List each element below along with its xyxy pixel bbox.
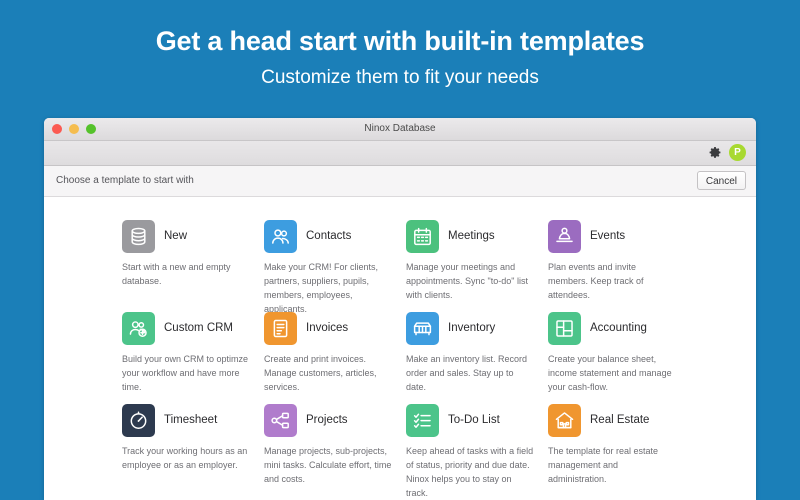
template-card-new[interactable]: NewStart with a new and empty database. bbox=[122, 219, 257, 311]
template-card-description: Plan events and invite members. Keep tra… bbox=[548, 260, 676, 302]
template-card-title: Contacts bbox=[306, 230, 351, 242]
template-card-meetings[interactable]: MeetingsManage your meetings and appoint… bbox=[406, 219, 541, 311]
template-card-description: Manage your meetings and appointments. S… bbox=[406, 260, 534, 302]
template-card-header: To-Do List bbox=[406, 403, 541, 437]
user-add-icon[interactable] bbox=[122, 312, 155, 345]
template-card-description: Start with a new and empty database. bbox=[122, 260, 250, 288]
minimize-button[interactable] bbox=[69, 124, 79, 134]
template-card-title: Meetings bbox=[448, 230, 495, 242]
template-card-title: Timesheet bbox=[164, 414, 217, 426]
template-card-accounting[interactable]: AccountingCreate your balance sheet, inc… bbox=[548, 311, 683, 403]
cancel-button[interactable]: Cancel bbox=[697, 171, 746, 190]
toolbar-actions: P bbox=[708, 144, 746, 161]
stopwatch-icon[interactable] bbox=[122, 404, 155, 437]
template-card-real-estate[interactable]: Real EstateThe template for real estate … bbox=[548, 403, 683, 495]
window-title: Ninox Database bbox=[44, 118, 756, 140]
template-card-to-do-list[interactable]: To-Do ListKeep ahead of tasks with a fie… bbox=[406, 403, 541, 495]
promo-title: Get a head start with built-in templates bbox=[0, 0, 800, 57]
template-card-header: Events bbox=[548, 219, 683, 253]
template-card-description: Build your own CRM to optimze your workf… bbox=[122, 352, 250, 394]
checklist-icon[interactable] bbox=[406, 404, 439, 437]
template-card-title: Inventory bbox=[448, 322, 495, 334]
subbar-label: Choose a template to start with bbox=[56, 166, 194, 196]
template-subbar: Choose a template to start with Cancel bbox=[44, 166, 756, 197]
template-card-header: Custom CRM bbox=[122, 311, 257, 345]
template-card-header: Invoices bbox=[264, 311, 399, 345]
template-card-custom-crm[interactable]: Custom CRMBuild your own CRM to optimze … bbox=[122, 311, 257, 403]
invoice-icon[interactable] bbox=[264, 312, 297, 345]
template-card-header: Real Estate bbox=[548, 403, 683, 437]
template-grid: NewStart with a new and empty database.C… bbox=[44, 197, 756, 495]
users-icon[interactable] bbox=[264, 220, 297, 253]
window-titlebar: Ninox Database bbox=[44, 118, 756, 141]
template-card-inventory[interactable]: InventoryMake an inventory list. Record … bbox=[406, 311, 541, 403]
database-icon[interactable] bbox=[122, 220, 155, 253]
presenter-icon[interactable] bbox=[548, 220, 581, 253]
template-card-title: Projects bbox=[306, 414, 348, 426]
template-card-header: Timesheet bbox=[122, 403, 257, 437]
template-card-title: Custom CRM bbox=[164, 322, 233, 334]
template-card-description: Make an inventory list. Record order and… bbox=[406, 352, 534, 394]
template-card-header: Projects bbox=[264, 403, 399, 437]
template-card-header: Accounting bbox=[548, 311, 683, 345]
template-card-header: Inventory bbox=[406, 311, 541, 345]
sitemap-icon[interactable] bbox=[264, 404, 297, 437]
avatar[interactable]: P bbox=[729, 144, 746, 161]
promo-banner: Get a head start with built-in templates… bbox=[0, 0, 800, 89]
template-card-header: New bbox=[122, 219, 257, 253]
template-card-title: Real Estate bbox=[590, 414, 649, 426]
template-card-description: Track your working hours as an employee … bbox=[122, 444, 250, 472]
template-card-contacts[interactable]: ContactsMake your CRM! For clients, part… bbox=[264, 219, 399, 311]
window-toolbar: P bbox=[44, 141, 756, 166]
shelf-icon[interactable] bbox=[406, 312, 439, 345]
template-card-description: Manage projects, sub-projects, mini task… bbox=[264, 444, 392, 486]
template-card-title: Accounting bbox=[590, 322, 647, 334]
template-card-events[interactable]: EventsPlan events and invite members. Ke… bbox=[548, 219, 683, 311]
template-card-title: To-Do List bbox=[448, 414, 500, 426]
zoom-button[interactable] bbox=[86, 124, 96, 134]
template-card-timesheet[interactable]: TimesheetTrack your working hours as an … bbox=[122, 403, 257, 495]
layout-grid-icon[interactable] bbox=[548, 312, 581, 345]
template-card-description: The template for real estate management … bbox=[548, 444, 676, 486]
template-card-title: Events bbox=[590, 230, 625, 242]
template-card-title: Invoices bbox=[306, 322, 348, 334]
app-window: Ninox Database P Choose a template to st… bbox=[44, 118, 756, 500]
gear-icon[interactable] bbox=[708, 146, 722, 160]
close-button[interactable] bbox=[52, 124, 62, 134]
template-card-title: New bbox=[164, 230, 187, 242]
template-card-header: Meetings bbox=[406, 219, 541, 253]
house-icon[interactable] bbox=[548, 404, 581, 437]
template-card-description: Create and print invoices. Manage custom… bbox=[264, 352, 392, 394]
traffic-lights bbox=[52, 124, 96, 134]
template-card-description: Keep ahead of tasks with a field of stat… bbox=[406, 444, 534, 500]
template-card-invoices[interactable]: InvoicesCreate and print invoices. Manag… bbox=[264, 311, 399, 403]
template-card-header: Contacts bbox=[264, 219, 399, 253]
template-card-projects[interactable]: ProjectsManage projects, sub-projects, m… bbox=[264, 403, 399, 495]
template-card-description: Create your balance sheet, income statem… bbox=[548, 352, 676, 394]
calendar-icon[interactable] bbox=[406, 220, 439, 253]
template-card-description: Make your CRM! For clients, partners, su… bbox=[264, 260, 392, 316]
promo-subtitle: Customize them to fit your needs bbox=[0, 57, 800, 89]
